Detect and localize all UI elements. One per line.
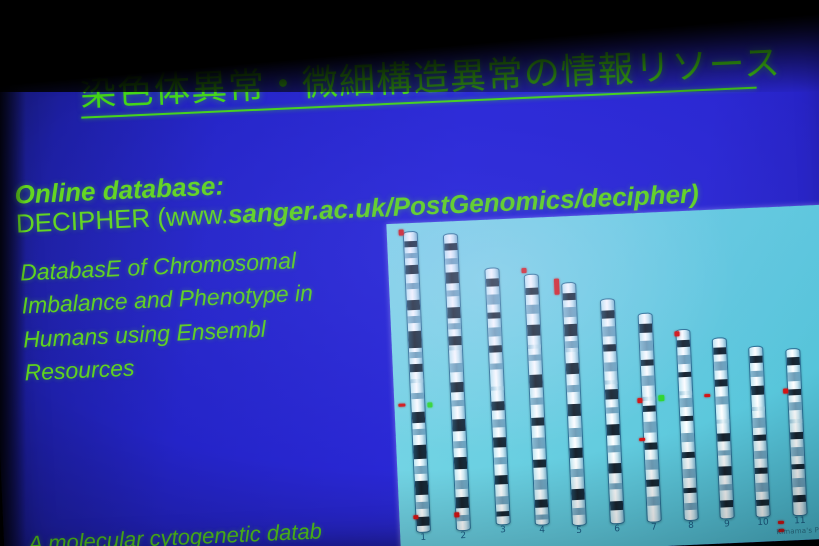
chromosome-band: [447, 307, 461, 319]
page-title: 染色体異常・微細構造異常の情報リソース: [79, 45, 780, 115]
chromosome-band: [535, 499, 548, 507]
chromosome-band: [496, 496, 509, 504]
chromosome-label-3: 3: [492, 525, 514, 536]
chromosome-band: [525, 287, 538, 295]
chromosome-band: [719, 484, 732, 491]
chromosome-band: [487, 294, 500, 305]
chromosome-band: [490, 363, 503, 370]
aberration-marker-green: [658, 395, 664, 401]
aberration-marker-red: [521, 268, 526, 273]
chromosome-band: [491, 401, 504, 411]
chromosome-label-1: 1: [412, 532, 434, 543]
chromosome-band: [452, 419, 466, 431]
centromere: [603, 380, 618, 385]
chromosome-band: [602, 326, 615, 337]
chromosome-band: [564, 324, 578, 337]
chromosome-band: [606, 407, 619, 414]
aberration-marker-red: [399, 229, 404, 235]
chromosome-band: [788, 389, 801, 395]
chromosome-band: [682, 451, 695, 458]
chromosome-band: [609, 483, 622, 490]
aberration-marker-red: [639, 438, 645, 441]
chromosome-label-7: 7: [643, 522, 665, 533]
chromosome-band: [413, 445, 427, 459]
chromosome-band: [607, 445, 620, 453]
chromosome-band: [683, 487, 696, 493]
centromere: [490, 386, 505, 391]
chromosome-band: [644, 442, 657, 450]
chromosome-band: [450, 382, 463, 393]
chromosome-band: [755, 482, 768, 491]
chromosome-label-9: 9: [716, 519, 738, 530]
chromosome-label-11: 11: [789, 516, 811, 527]
acronym-expansion-text: DatabasE of Chromosomal Imbalance and Ph…: [19, 241, 375, 390]
aberration-marker-red: [454, 512, 459, 517]
chromosome-band: [787, 357, 800, 365]
chromosome-band: [488, 327, 501, 337]
chromosome-band: [493, 437, 506, 448]
centromere: [641, 397, 656, 402]
chromosome-band: [572, 508, 585, 516]
chromosome-label-5: 5: [568, 525, 590, 536]
chromosome-band: [755, 467, 768, 474]
chromosome-7: [638, 312, 662, 522]
chromosome-band: [754, 450, 767, 459]
chromosome-band: [404, 241, 417, 248]
chromosome-band: [570, 469, 583, 477]
chromosome-band: [409, 352, 422, 359]
chromosome-8: [675, 329, 699, 521]
chromosome-band: [405, 253, 418, 258]
chromosome-band: [535, 514, 548, 520]
chromosome-band: [604, 362, 617, 372]
chromosome-band: [715, 396, 728, 405]
centromere: [448, 346, 463, 351]
chromosome-band: [790, 432, 803, 440]
chromosome-band: [751, 386, 764, 395]
chromosome-band: [601, 310, 614, 318]
chromosome-band: [793, 495, 806, 502]
chromosome-6: [600, 298, 625, 524]
chromosome-9: [712, 337, 735, 519]
chromosome-band: [415, 481, 429, 495]
chromosome-band: [531, 417, 544, 426]
presentation-slide: 染色体異常・微細構造異常の情報リソース Online database: DEC…: [0, 8, 819, 546]
chromosome-band: [567, 384, 580, 392]
chromosome-band: [646, 480, 659, 487]
chromosome-band: [643, 422, 656, 433]
chromosome-band: [456, 497, 469, 508]
chromosome-band: [641, 376, 654, 386]
chromosome-band: [407, 299, 420, 310]
chromosome-band: [643, 405, 656, 412]
chromosome-band: [454, 457, 468, 469]
chromosome-band: [684, 503, 697, 511]
chromosome-band: [446, 290, 459, 296]
chromosome-band: [408, 331, 422, 348]
chromosome-band: [677, 354, 690, 364]
chromosome-band: [641, 359, 654, 366]
chromosome-band: [752, 418, 765, 428]
chromosome-band: [789, 402, 802, 411]
chromosome-band: [410, 364, 423, 373]
chromosome-band: [678, 372, 691, 378]
chromosome-band: [445, 258, 458, 264]
chromosome-band: [683, 468, 696, 478]
chromosome-band: [526, 304, 539, 313]
chromosome-band: [605, 389, 618, 400]
chromosome-band: [568, 404, 582, 417]
chromosome-band: [406, 283, 419, 290]
chromosome-band: [792, 478, 805, 487]
chromosome-band: [451, 400, 464, 406]
aberration-marker-green: [427, 402, 432, 407]
chromosome-band: [487, 312, 500, 319]
projected-slide-photo: 染色体異常・微細構造異常の情報リソース Online database: DEC…: [0, 0, 819, 546]
chromosome-band: [569, 428, 582, 437]
chromosome-band: [494, 457, 507, 464]
aberration-marker-red: [637, 398, 642, 403]
chromosome-band: [414, 466, 427, 474]
chromosome-band: [713, 347, 726, 355]
chromosome-band: [528, 354, 541, 361]
chromosome-band: [603, 344, 616, 351]
chromosome-band: [750, 370, 763, 377]
chromosome-band: [412, 412, 425, 423]
slide-title-block: 染色体異常・微細構造異常の情報リソース: [79, 45, 780, 119]
centromere: [409, 379, 424, 384]
chromosome-band: [566, 363, 579, 374]
chromosome-3: [484, 267, 510, 525]
aberration-marker-red: [398, 404, 405, 407]
chromosome-band: [529, 374, 543, 387]
chromosome-band: [639, 324, 652, 333]
chromosome-band: [717, 433, 730, 442]
chromosome-band: [486, 278, 499, 286]
chromosome-band: [527, 324, 540, 336]
karyotype-ideogram-panel: 123456789101112 Kimama's Photo Gallery: [386, 203, 819, 546]
chromosome-band: [563, 307, 576, 317]
chromosome-band: [640, 340, 653, 351]
chromosome-band: [453, 441, 466, 448]
chromosome-band: [407, 316, 420, 323]
chromosome-band: [647, 496, 660, 506]
chromosome-band: [448, 323, 461, 330]
chromosome-band: [720, 500, 733, 508]
chromosome-5: [561, 282, 587, 526]
chromosome-label-4: 4: [531, 525, 553, 536]
aberration-marker-red: [778, 521, 784, 524]
centromere: [678, 391, 693, 396]
chromosome-band: [753, 435, 766, 442]
centromere: [715, 419, 730, 424]
chromosome-band: [563, 293, 576, 301]
chromosome-band: [455, 479, 468, 488]
chromosome-10: [748, 346, 771, 518]
chromosome-band: [496, 511, 509, 517]
chromosome-label-2: 2: [452, 531, 474, 542]
aberration-marker-red: [704, 394, 710, 397]
chromosome-2: [443, 233, 471, 531]
chromosome-band: [756, 499, 769, 506]
chromosome-band: [679, 398, 692, 407]
chromosome-band: [610, 501, 623, 511]
chromosome-band: [533, 459, 546, 467]
chromosome-label-10: 10: [752, 517, 774, 528]
chromosome-label-8: 8: [680, 520, 702, 531]
chromosome-band: [450, 363, 463, 372]
chromosome-1: [403, 231, 431, 533]
chromosome-band: [405, 265, 418, 275]
chromosome-band: [530, 397, 543, 405]
chromosome-band: [750, 355, 763, 363]
chromosome-label-6: 6: [606, 524, 628, 535]
chromosome-band: [677, 339, 690, 347]
chromosome-band: [416, 502, 429, 509]
chromosome-band: [718, 450, 731, 456]
chromosome-11: [785, 348, 807, 517]
chromosome-4: [524, 273, 550, 525]
centromere: [751, 406, 766, 411]
chromosome-band: [571, 488, 584, 499]
chromosome-band: [718, 466, 731, 476]
chromosome-band: [680, 415, 693, 421]
chromosome-band: [411, 392, 424, 399]
aberration-marker-red: [783, 388, 788, 393]
chromosome-band: [608, 462, 621, 473]
chromosome-band: [645, 459, 658, 470]
chromosome-band: [714, 362, 727, 372]
chromosome-band: [787, 372, 800, 382]
chromosome-band: [492, 419, 505, 427]
chromosome-band: [489, 345, 502, 353]
chromosome-band: [534, 479, 547, 490]
chromosome-band: [715, 380, 728, 387]
chromosome-band: [681, 432, 694, 442]
aberration-marker-red: [674, 331, 679, 336]
chromosome-band: [444, 243, 457, 251]
chromosome-band: [412, 428, 425, 435]
aberration-marker-red: [413, 515, 418, 519]
chromosome-band: [495, 475, 508, 485]
chromosome-band: [606, 424, 619, 435]
centromere: [527, 344, 542, 349]
aberration-marker-red: [554, 279, 560, 295]
centromere: [788, 419, 803, 424]
chromosome-band: [448, 336, 461, 345]
chromosome-band: [446, 272, 459, 283]
centromere: [564, 348, 579, 353]
chromosome-band: [569, 447, 582, 458]
chromosome-band: [791, 463, 804, 469]
chromosome-band: [532, 437, 545, 449]
chromosome-band: [791, 447, 804, 457]
bottom-partial-text: A molecular cytogenetic datab: [28, 518, 323, 546]
